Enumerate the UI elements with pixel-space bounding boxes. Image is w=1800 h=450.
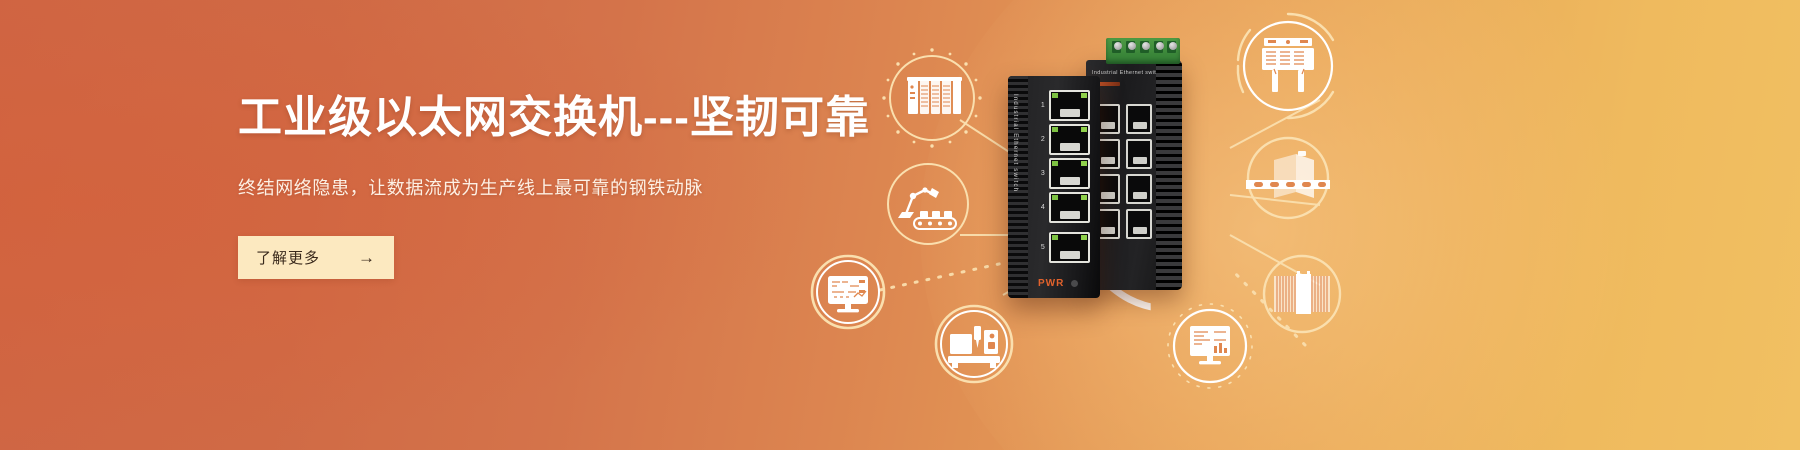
port-number: 5 (1034, 244, 1045, 251)
learn-more-button[interactable]: 了解更多 → (238, 236, 394, 279)
power-led (1071, 280, 1078, 287)
power-indicator: PWR (1038, 278, 1078, 289)
rj45-port (1126, 104, 1152, 134)
rj45-port (1049, 124, 1090, 155)
node-plc-rack (880, 46, 984, 155)
learn-more-label: 了解更多 (256, 247, 320, 268)
rj45-port (1049, 90, 1090, 121)
port-number: 1 (1034, 102, 1045, 109)
port-row: 5 (1034, 232, 1090, 263)
terminal-screw (1169, 42, 1177, 50)
industrial-ethernet-switch: Industrial Ethernet switch (1008, 36, 1216, 304)
port-row: 2 (1034, 124, 1090, 155)
power-label: PWR (1038, 278, 1064, 289)
power-terminal-block (1106, 38, 1180, 64)
terminal-screw (1142, 42, 1150, 50)
port-number: 2 (1034, 136, 1045, 143)
robot-conveyor-icon (880, 156, 976, 252)
port-row: 1 (1034, 90, 1090, 121)
arrow-right-icon: → (358, 249, 376, 266)
heatsink-icon (1256, 248, 1348, 340)
rj45-port (1049, 232, 1090, 263)
workstation-icon (1160, 296, 1260, 396)
heat-fins (1156, 60, 1182, 290)
port-number: 4 (1034, 204, 1045, 211)
port-row: 3 (1034, 158, 1090, 189)
cnc-machine-icon (928, 298, 1020, 390)
hero-banner: 工业级以太网交换机---坚韧可靠 终结网络隐患，让数据流成为生产线上最可靠的钢铁… (0, 0, 1800, 450)
port-row: 4 (1034, 192, 1090, 223)
rj45-port (1126, 174, 1152, 204)
rj45-port (1049, 192, 1090, 223)
rj45-port (1126, 209, 1152, 239)
node-din-rail (1240, 130, 1336, 231)
control-cabinet-icon (1232, 10, 1344, 122)
node-workstation (1160, 296, 1260, 401)
node-heatsink (1256, 248, 1348, 345)
rj45-port (1049, 158, 1090, 189)
front-unit-label: Industrial Ethernet switch (1012, 94, 1018, 192)
din-rail-icon (1240, 130, 1336, 226)
switch-front-unit: Industrial Ethernet switch 1 2 3 4 5 PWR (1008, 76, 1100, 298)
plc-rack-icon (880, 46, 984, 150)
hero-subtitle: 终结网络隐患，让数据流成为生产线上最可靠的钢铁动脉 (238, 174, 878, 200)
node-control-cabinet (1232, 10, 1344, 127)
node-cnc-machine (928, 298, 1020, 395)
heat-fins (1008, 76, 1028, 298)
terminal-screw (1128, 42, 1136, 50)
rj45-port (1126, 139, 1152, 169)
port-number: 3 (1034, 170, 1045, 177)
hero-copy: 工业级以太网交换机---坚韧可靠 终结网络隐患，让数据流成为生产线上最可靠的钢铁… (238, 92, 878, 279)
rear-port-group (1094, 104, 1152, 239)
front-port-group: 1 2 3 4 5 (1034, 90, 1090, 266)
switch-rear-unit: Industrial Ethernet switch (1086, 60, 1182, 290)
terminal-screw (1156, 42, 1164, 50)
page-title: 工业级以太网交换机---坚韧可靠 (238, 92, 878, 144)
rear-unit-label: Industrial Ethernet switch (1092, 70, 1163, 76)
node-robot-conveyor (880, 156, 976, 257)
terminal-screw (1114, 42, 1122, 50)
